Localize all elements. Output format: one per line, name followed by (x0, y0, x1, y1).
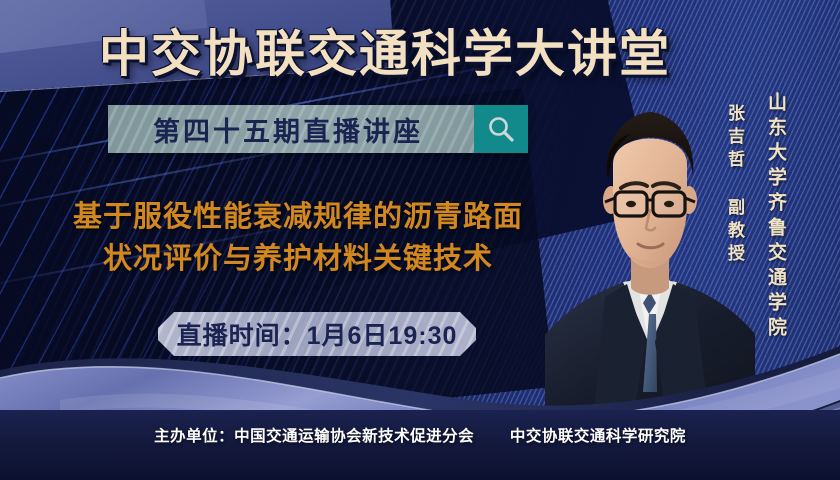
lecture-title-line-2: 状况评价与养护材料关键技术 (18, 238, 578, 280)
page-title: 中交协联交通科学大讲堂 (0, 14, 770, 86)
speaker-organization: 山东大学齐鲁交通学院 (762, 92, 789, 342)
broadcast-time-label: 直播时间：1月6日19:30 (177, 316, 458, 352)
broadcast-time-badge: 直播时间：1月6日19:30 (158, 312, 476, 356)
lecture-title-line-1: 基于服役性能衰减规律的沥青路面 (73, 201, 523, 233)
speaker-name-title: 张吉哲 副教授 (722, 104, 747, 267)
footer-organizer-label: 主办单位：中国交通运输协会新技术促进分会 (154, 428, 474, 445)
lecture-title: 基于服役性能衰减规律的沥青路面 状况评价与养护材料关键技术 (18, 196, 578, 280)
footer-institute-label: 中交协联交通科学研究院 (510, 428, 686, 445)
search-icon (486, 114, 516, 144)
live-lecture-poster: 中交协联交通科学大讲堂 第四十五期直播讲座 基于服役性能衰减规律的沥青路面 状况… (0, 0, 840, 480)
episode-bar: 第四十五期直播讲座 (108, 105, 528, 153)
episode-label: 第四十五期直播讲座 (108, 105, 474, 153)
search-icon-box[interactable] (474, 105, 528, 153)
footer-organizers: 主办单位：中国交通运输协会新技术促进分会 中交协联交通科学研究院 (0, 424, 840, 446)
